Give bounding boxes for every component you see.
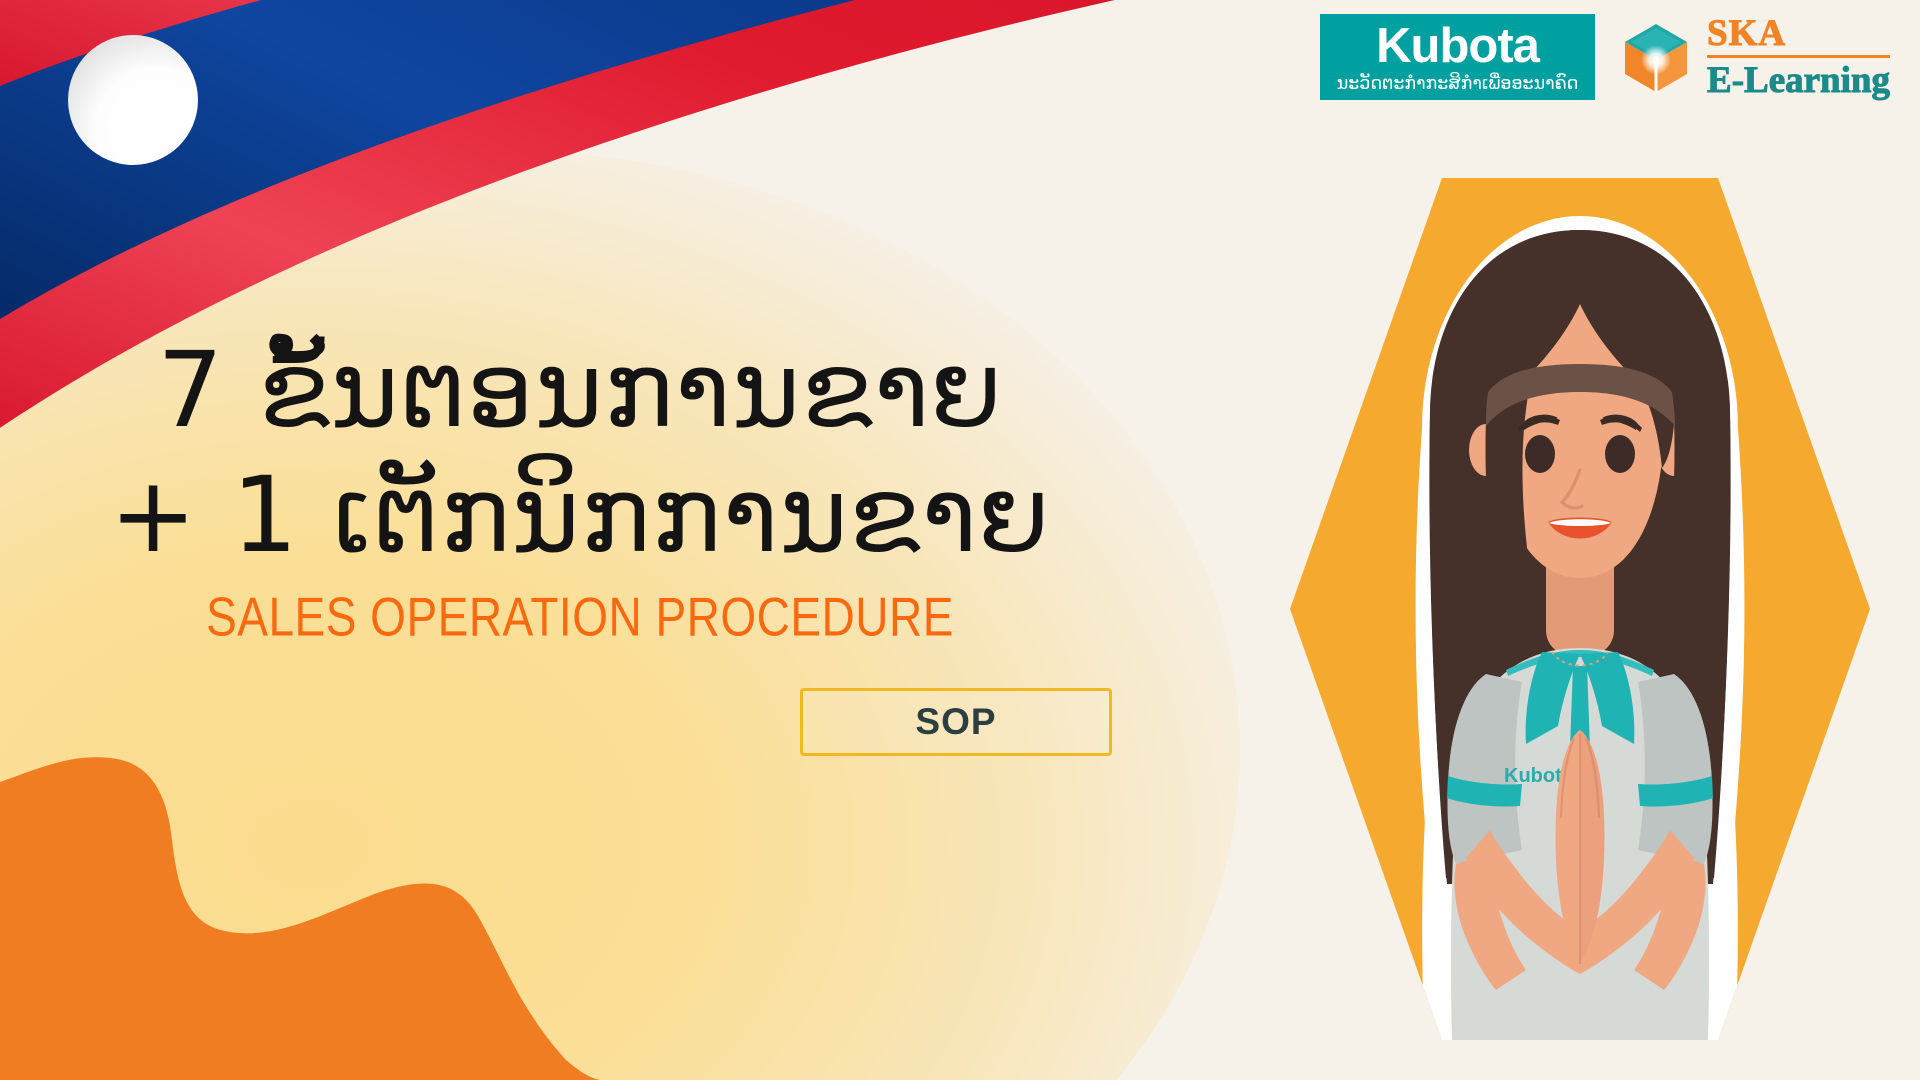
kubota-logo: Kubota ນະວັດຕະກຳກະສິກຳເພື່ອອະນາຄົດ (1320, 14, 1595, 100)
ska-wordmark: SKA E-Learning (1707, 15, 1890, 99)
title-line-2: + 1 ເຕັກນິກການຂາຍ (0, 455, 1160, 576)
ska-line-1: SKA (1707, 15, 1890, 52)
kubota-tagline: ນະວັດຕະກຳກະສິກຳເພື່ອອະນາຄົດ (1337, 74, 1579, 94)
subtitle-english: SALES OPERATION PROCEDURE (0, 585, 1160, 649)
decorative-orange-blob (0, 720, 720, 1080)
sop-button-label: SOP (915, 701, 996, 743)
logo-bar: Kubota ນະວັດຕະກຳກະສິກຳເພື່ອອະນາຄົດ (1320, 14, 1890, 100)
ska-line-2: E-Learning (1707, 62, 1890, 99)
open-book-cube-icon (1617, 18, 1695, 96)
kubota-wordmark: Kubota (1376, 22, 1539, 72)
ska-elearning-logo: SKA E-Learning (1617, 15, 1890, 99)
sop-button[interactable]: SOP (800, 688, 1112, 756)
slide-canvas: Kubota Kub (0, 0, 1920, 1080)
ska-divider (1707, 55, 1890, 58)
title-line-1: 7 ຂັ້ນຕອນການຂາຍ (0, 330, 1160, 451)
title-block: 7 ຂັ້ນຕອນການຂາຍ + 1 ເຕັກນິກການຂາຍ SALES … (0, 330, 1160, 639)
kubota-staff-greeting-illustration: Kubota (1290, 178, 1870, 1040)
